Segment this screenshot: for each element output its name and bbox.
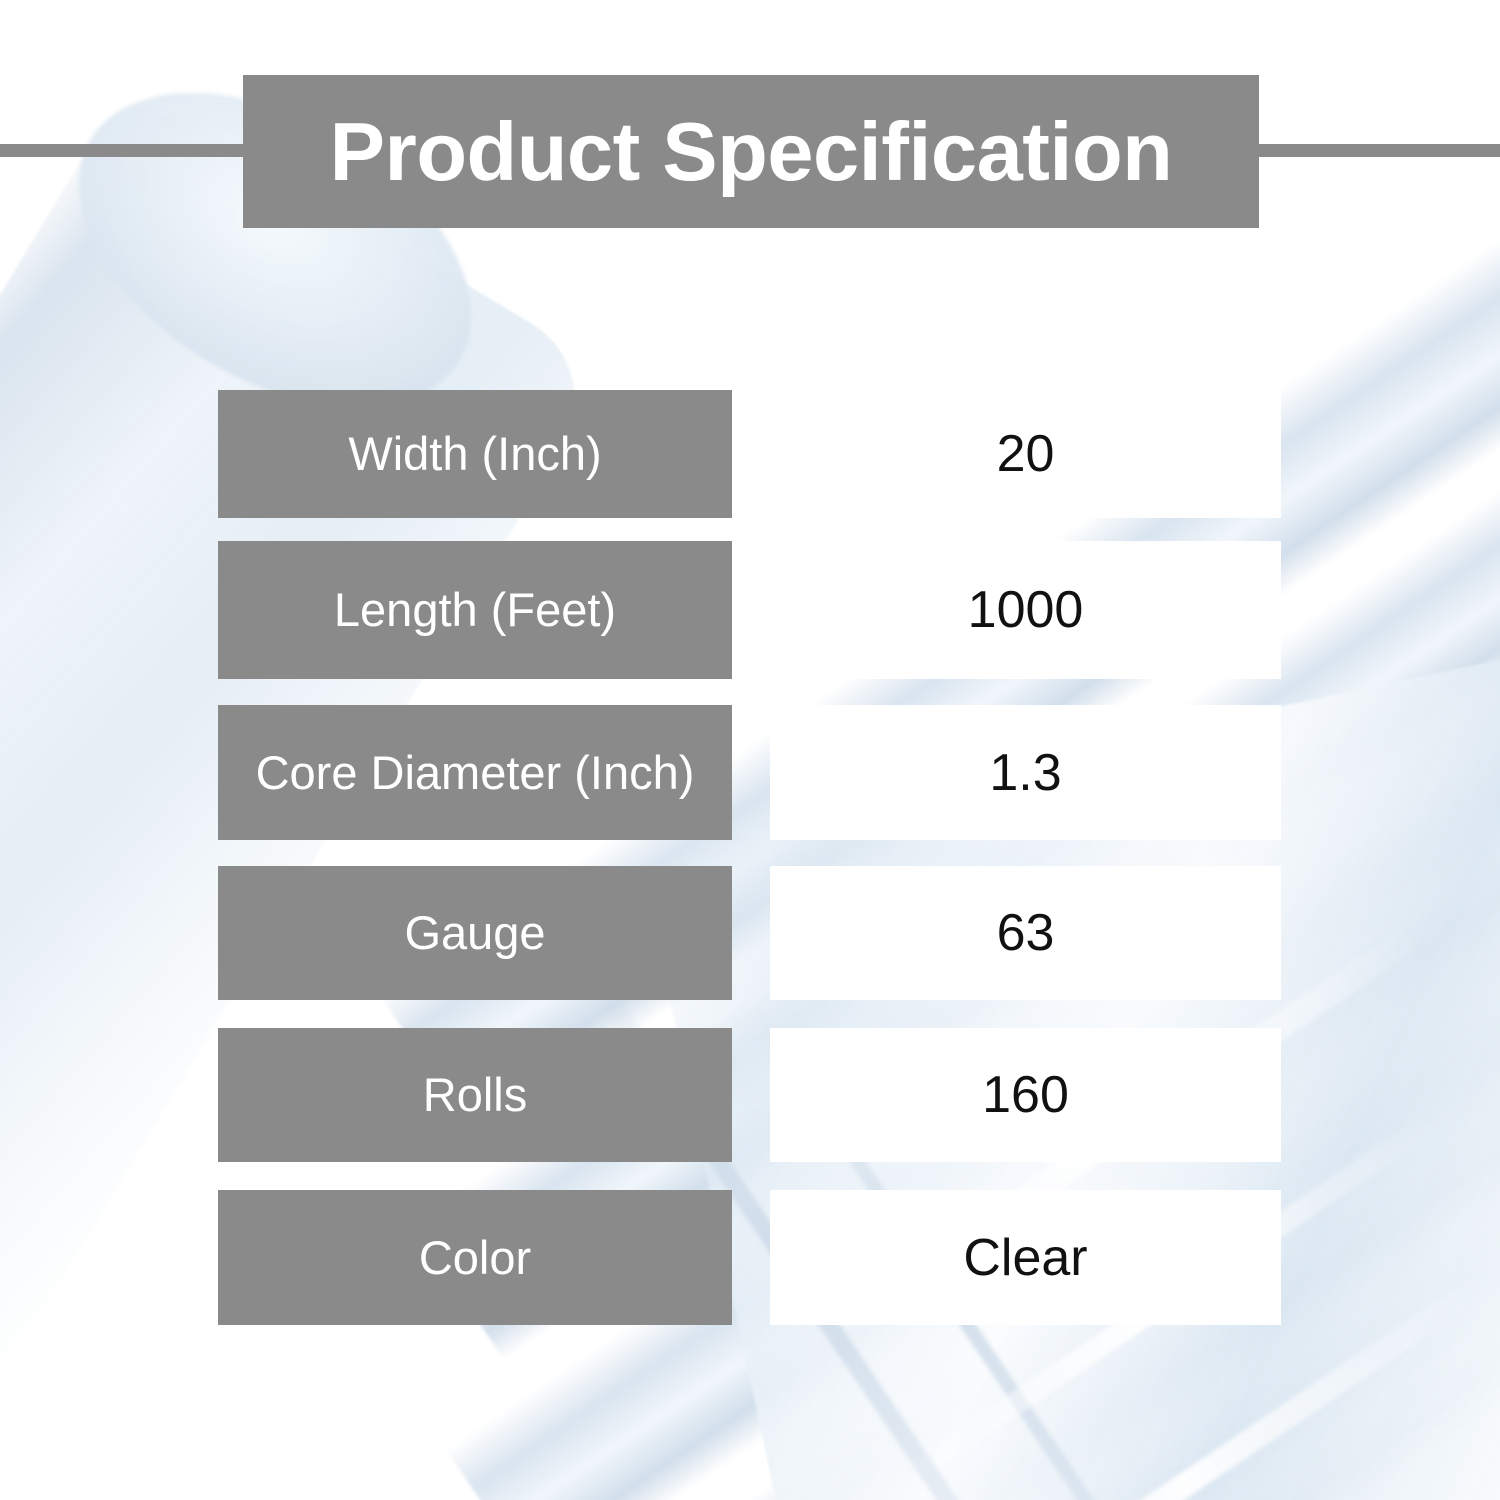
- spec-label-rolls: Rolls: [218, 1028, 732, 1162]
- spec-value-gauge: 63: [770, 866, 1281, 1000]
- spec-label-gauge: Gauge: [218, 866, 732, 1000]
- spec-value-width: 20: [770, 390, 1281, 518]
- spec-label-length: Length (Feet): [218, 541, 732, 679]
- spec-label-color: Color: [218, 1190, 732, 1325]
- spec-value-length: 1000: [770, 541, 1281, 679]
- spec-value-rolls: 160: [770, 1028, 1281, 1162]
- product-specification-page: Product Specification Width (Inch) 20 Le…: [0, 0, 1500, 1500]
- spec-label-width: Width (Inch): [218, 390, 732, 518]
- spec-label-core-diameter: Core Diameter (Inch): [218, 705, 732, 840]
- spec-value-core-diameter: 1.3: [770, 705, 1281, 840]
- spec-value-color: Clear: [770, 1190, 1281, 1325]
- specification-table: Width (Inch) 20 Length (Feet) 1000 Core …: [0, 0, 1500, 1500]
